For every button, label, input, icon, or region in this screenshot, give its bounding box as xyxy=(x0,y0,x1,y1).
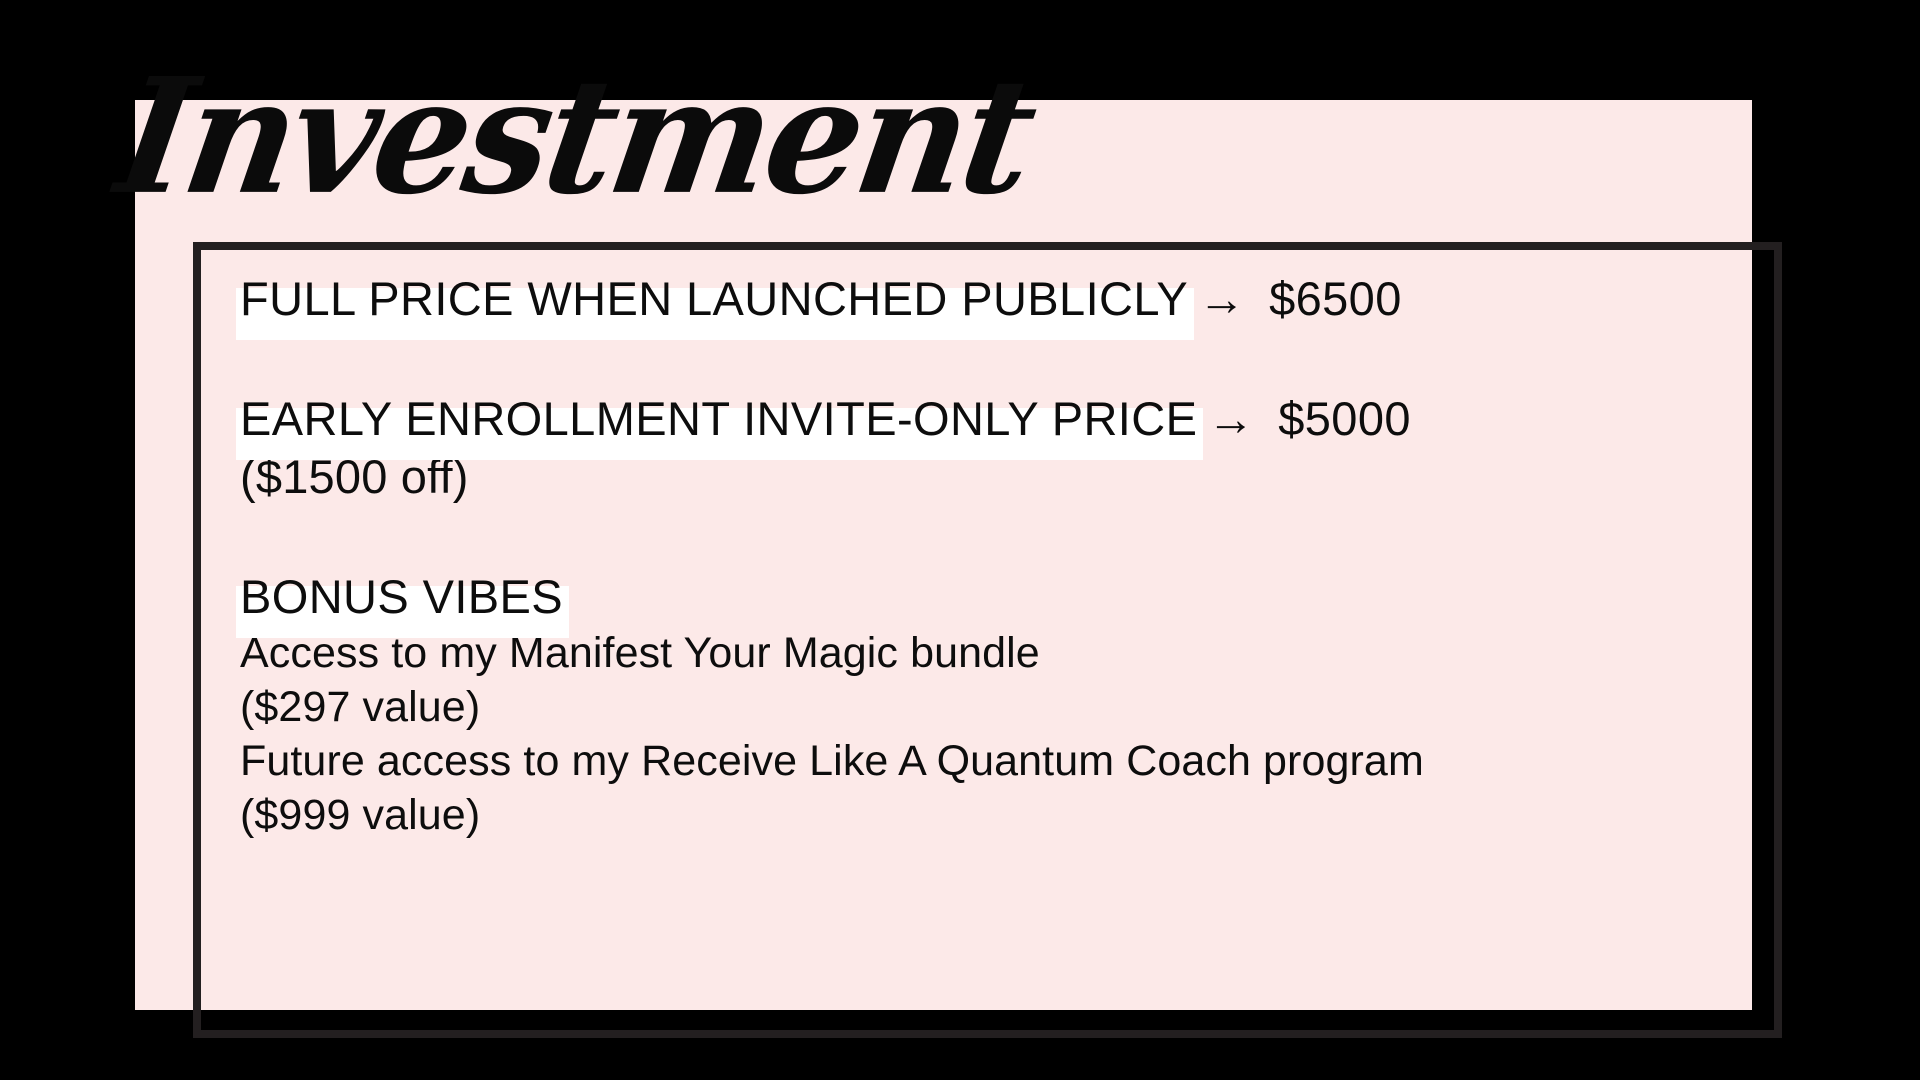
slide-canvas: Investment FULL PRICE WHEN LAUNCHED PUBL… xyxy=(0,0,1920,1080)
full-price-row: FULL PRICE WHEN LAUNCHED PUBLICLY→ $6500 xyxy=(240,270,1740,328)
investment-content: FULL PRICE WHEN LAUNCHED PUBLICLY→ $6500… xyxy=(240,270,1740,1000)
early-price-amount: $5000 xyxy=(1278,392,1411,445)
bonus-item-value-1: ($999 value) xyxy=(240,788,1740,842)
early-price-label: EARLY ENROLLMENT INVITE-ONLY PRICE xyxy=(240,390,1197,448)
early-price-arrow: → xyxy=(1207,392,1254,445)
bonus-item-value-0: ($297 value) xyxy=(240,680,1740,734)
bonus-heading-row: BONUS VIBES xyxy=(240,568,1740,626)
bonus-item-name-1: Future access to my Receive Like A Quant… xyxy=(240,734,1740,788)
full-price-arrow: → xyxy=(1198,272,1245,325)
full-price-amount: $6500 xyxy=(1269,272,1402,325)
spacer-before-bonus xyxy=(240,506,1740,568)
bonus-heading: BONUS VIBES xyxy=(240,568,563,626)
full-price-label: FULL PRICE WHEN LAUNCHED PUBLICLY xyxy=(240,270,1188,328)
early-price-row: EARLY ENROLLMENT INVITE-ONLY PRICE→ $500… xyxy=(240,390,1740,448)
